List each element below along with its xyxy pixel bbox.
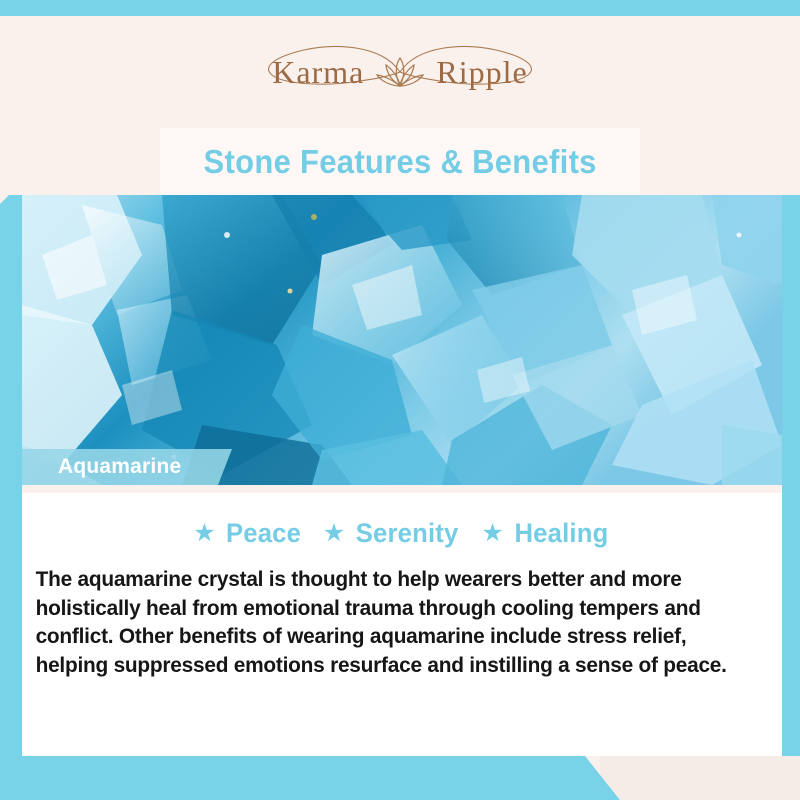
keyword-label: Peace: [226, 518, 301, 549]
aquamarine-crystal-photo: [22, 195, 782, 485]
keyword-list: ★ Peace ★ Serenity ★ Healing: [22, 493, 782, 559]
brand-name-left: Karma: [272, 56, 364, 88]
page-title: Stone Features & Benefits: [203, 143, 596, 181]
poster-canvas: Karma Ripple Stone Features & Benefits: [0, 0, 800, 800]
brand-logo: Karma Ripple: [250, 39, 550, 105]
star-icon: ★: [481, 521, 503, 546]
stone-name-label: Aquamarine: [22, 455, 181, 479]
brand-name-right: Ripple: [436, 56, 527, 88]
star-icon: ★: [193, 521, 215, 546]
star-icon: ★: [323, 521, 345, 546]
keyword-label: Healing: [514, 518, 608, 549]
brand-header: Karma Ripple: [0, 16, 800, 128]
title-strip: Stone Features & Benefits: [0, 128, 800, 195]
bottom-accent-band: [0, 756, 620, 800]
keyword-label: Serenity: [356, 518, 459, 549]
bottom-right-cream-band: [600, 756, 800, 800]
keyword-item-peace: ★ Peace: [193, 518, 303, 549]
left-accent-band: [0, 190, 22, 800]
keyword-item-serenity: ★ Serenity: [323, 518, 462, 549]
hero-image: [22, 195, 782, 485]
description-paragraph: The aquamarine crystal is thought to hel…: [22, 559, 759, 679]
lotus-icon: [374, 52, 426, 92]
content-card: ★ Peace ★ Serenity ★ Healing The aquamar…: [22, 493, 782, 756]
stone-name-banner: Aquamarine: [22, 449, 232, 485]
keyword-item-healing: ★ Healing: [481, 518, 610, 549]
title-panel: Stone Features & Benefits: [160, 128, 640, 195]
top-accent-band: [0, 0, 800, 16]
